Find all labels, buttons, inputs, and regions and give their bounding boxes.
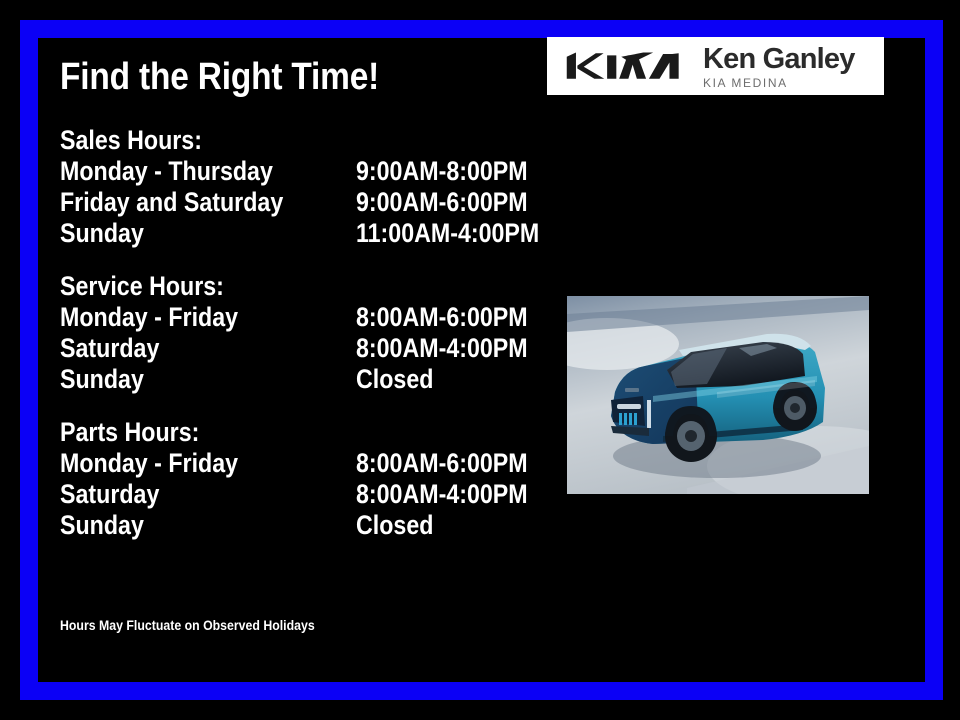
kia-logo-icon: [561, 49, 683, 83]
hours-row: Monday - Thursday 9:00AM-8:00PM: [60, 156, 530, 187]
hours-row: Friday and Saturday 9:00AM-6:00PM: [60, 187, 530, 218]
hours-time-value: Closed: [356, 510, 506, 541]
hours-day-label: Sunday: [60, 218, 315, 249]
hours-day-label: Monday - Friday: [60, 448, 315, 479]
hours-row: Monday - Friday 8:00AM-6:00PM: [60, 302, 530, 333]
hours-day-label: Monday - Friday: [60, 302, 315, 333]
hours-time-value: 8:00AM-6:00PM: [356, 302, 528, 333]
hours-row: Saturday 8:00AM-4:00PM: [60, 479, 530, 510]
hours-day-label: Friday and Saturday: [60, 187, 315, 218]
hours-row: Sunday Closed: [60, 510, 530, 541]
vehicle-photo: [567, 296, 869, 494]
hours-day-label: Monday - Thursday: [60, 156, 315, 187]
hours-time-value: 9:00AM-8:00PM: [356, 156, 528, 187]
hours-row: Monday - Friday 8:00AM-6:00PM: [60, 448, 530, 479]
hours-row: Sunday 11:00AM-4:00PM: [60, 218, 530, 249]
hours-listing: Sales Hours: Monday - Thursday 9:00AM-8:…: [60, 125, 530, 563]
dealer-subtitle: KIA MEDINA: [703, 77, 855, 89]
hours-section-sales: Sales Hours: Monday - Thursday 9:00AM-8:…: [60, 125, 530, 249]
page-title: Find the Right Time!: [60, 56, 379, 99]
dealer-name: Ken Ganley: [703, 44, 855, 74]
hours-row: Sunday Closed: [60, 364, 530, 395]
holiday-disclaimer: Hours May Fluctuate on Observed Holidays: [60, 617, 315, 633]
hours-time-value: 8:00AM-6:00PM: [356, 448, 528, 479]
section-title: Parts Hours:: [60, 417, 464, 448]
hours-day-label: Saturday: [60, 333, 315, 364]
hours-time-value: 8:00AM-4:00PM: [356, 333, 528, 364]
hours-day-label: Saturday: [60, 479, 315, 510]
hours-time-value: 11:00AM-4:00PM: [356, 218, 539, 249]
hours-day-label: Sunday: [60, 364, 315, 395]
hours-section-parts: Parts Hours: Monday - Friday 8:00AM-6:00…: [60, 417, 530, 541]
hours-time-value: 9:00AM-6:00PM: [356, 187, 528, 218]
section-title: Service Hours:: [60, 271, 464, 302]
dealer-text-block: Ken Ganley KIA MEDINA: [703, 44, 855, 89]
section-title: Sales Hours:: [60, 125, 464, 156]
hours-time-value: 8:00AM-4:00PM: [356, 479, 528, 510]
hours-section-service: Service Hours: Monday - Friday 8:00AM-6:…: [60, 271, 530, 395]
dealer-logo-banner: Ken Ganley KIA MEDINA: [547, 37, 884, 95]
hours-time-value: Closed: [356, 364, 506, 395]
hours-day-label: Sunday: [60, 510, 315, 541]
kia-ev9-illustration: [567, 296, 869, 494]
slide-root: Find the Right Time! Sales Hours: Monday…: [0, 0, 960, 720]
hours-row: Saturday 8:00AM-4:00PM: [60, 333, 530, 364]
